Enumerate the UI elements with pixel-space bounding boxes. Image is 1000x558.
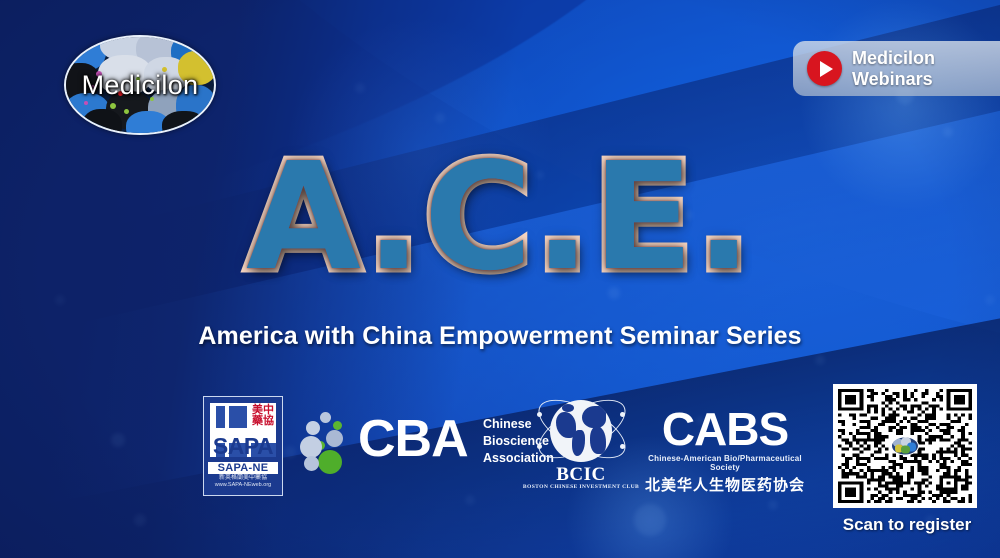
partner-logo-bcic[interactable]: BCIC BOSTON CHINESE INVESTMENT CLUB	[526, 394, 636, 498]
partner-logo-cba[interactable]: CBA Chinese Bioscience Association	[300, 406, 515, 486]
sapa-emblem: 美中 藥協 SAPA	[208, 401, 278, 459]
sapa-url[interactable]: www.SAPA-NEweb.org	[208, 482, 278, 489]
medicilon-webinars-badge[interactable]: Medicilon Webinars	[793, 41, 1000, 96]
qr-center-medicilon-logo	[891, 437, 919, 456]
webinars-badge-text: Medicilon Webinars	[852, 48, 935, 89]
partner-logo-sapa[interactable]: 美中 藥協 SAPA SAPA-NE 新英格蘭美中藥協 www.SAPA-NEw…	[203, 396, 283, 496]
partner-logo-strip: 美中 藥協 SAPA SAPA-NE 新英格蘭美中藥協 www.SAPA-NEw…	[0, 388, 830, 508]
medicilon-logo[interactable]: Medicilon	[64, 35, 216, 135]
bcic-wordmark: BCIC	[526, 464, 636, 486]
webinars-badge-line2: Webinars	[852, 69, 933, 89]
play-icon[interactable]	[807, 51, 842, 86]
cabs-wordmark: CABS	[645, 406, 805, 452]
sapa-wordmark: SAPA	[210, 435, 276, 457]
qr-register-block[interactable]: Scan to register	[833, 384, 981, 549]
cba-subtitle-line1: Chinese	[483, 417, 532, 431]
bcic-subtitle: BOSTON CHINESE INVESTMENT CLUB	[520, 484, 642, 490]
sapa-chinese-mark: 美中 藥協	[252, 404, 274, 426]
partner-logo-cabs[interactable]: CABS Chinese-American Bio/Pharmaceutical…	[645, 406, 805, 486]
qr-code[interactable]	[833, 384, 977, 508]
page-subtitle: America with China Empowerment Seminar S…	[0, 322, 1000, 351]
sapa-chinese-line2: 藥協	[252, 414, 274, 427]
medicilon-logo-label: Medicilon	[66, 37, 214, 133]
cba-bubbles-icon	[300, 412, 360, 478]
globe-icon	[550, 400, 612, 462]
cba-wordmark: CBA	[358, 412, 468, 466]
qr-caption: Scan to register	[833, 515, 981, 535]
sapa-chapter: SAPA-NE	[208, 462, 278, 474]
webinars-badge-line1: Medicilon	[852, 48, 935, 68]
sapa-chinese-subtitle: 新英格蘭美中藥協	[208, 474, 278, 482]
cabs-chinese-subtitle: 北美华人生物医药协会	[645, 474, 805, 495]
page-title: A.C.E.	[0, 143, 1000, 291]
cabs-subtitle: Chinese-American Bio/Pharmaceutical Soci…	[645, 454, 805, 472]
webinar-banner: Medicilon Medicilon Webinars A.C.E. A.C.…	[0, 0, 1000, 558]
